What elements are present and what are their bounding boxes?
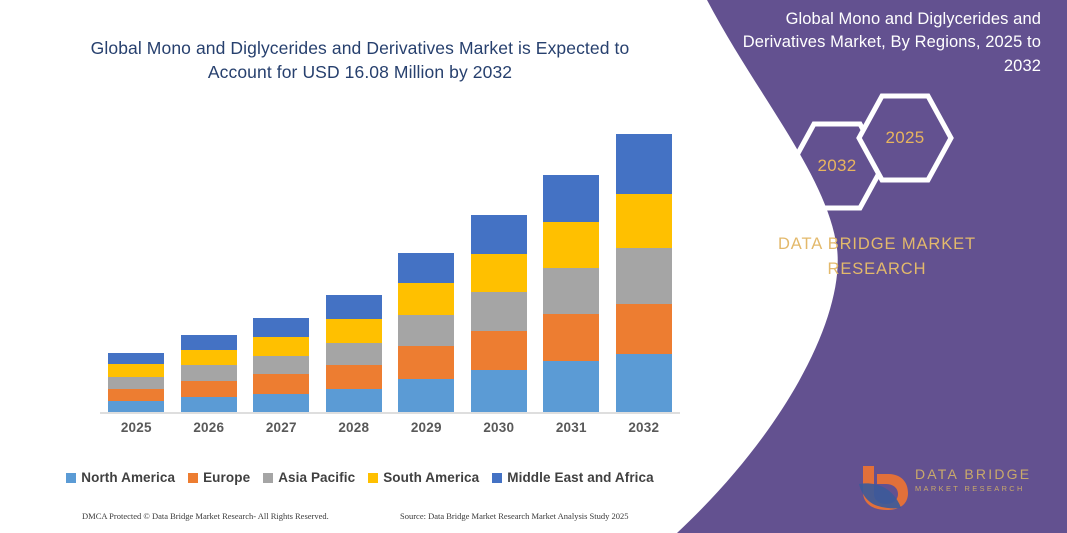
x-axis-label-2028: 2028 <box>326 420 382 435</box>
legend-swatch-icon <box>263 473 273 483</box>
bar-segment <box>326 365 382 388</box>
bar-segment <box>253 337 309 356</box>
bar-segment <box>326 319 382 343</box>
bar-segment <box>471 254 527 293</box>
bar-segment <box>108 353 164 364</box>
hexagon-outline-icon <box>787 120 887 212</box>
bar-segment <box>398 379 454 414</box>
panel-title: Global Mono and Diglycerides and Derivat… <box>731 8 1041 78</box>
bar-column-2032 <box>616 134 672 414</box>
purple-panel-content: Global Mono and Diglycerides and Derivat… <box>677 0 1067 533</box>
bar-segment <box>326 389 382 414</box>
bar-segment <box>398 253 454 283</box>
chart-legend: North AmericaEuropeAsia PacificSouth Ame… <box>0 470 720 485</box>
bar-segment <box>253 394 309 414</box>
logo-sub-text: MARKET RESEARCH <box>915 484 1047 493</box>
bar-segment <box>471 331 527 371</box>
legend-label: Asia Pacific <box>278 470 355 485</box>
bar-segment <box>181 381 237 397</box>
x-axis-label-2025: 2025 <box>108 420 164 435</box>
bar-column-2031 <box>543 175 599 414</box>
bar-segment <box>543 175 599 223</box>
legend-label: Middle East and Africa <box>507 470 653 485</box>
bar-segment <box>326 295 382 318</box>
bar-segment <box>616 304 672 355</box>
bar-segment <box>543 314 599 362</box>
bar-segment <box>253 374 309 393</box>
bar-segment <box>253 318 309 337</box>
bar-segment <box>326 343 382 365</box>
data-bridge-b-logo-icon <box>857 464 909 510</box>
legend-item-south-america[interactable]: South America <box>368 470 479 485</box>
right-purple-panel: Global Mono and Diglycerides and Derivat… <box>677 0 1067 533</box>
bar-segment <box>398 315 454 346</box>
legend-swatch-icon <box>492 473 502 483</box>
legend-item-asia-pacific[interactable]: Asia Pacific <box>263 470 355 485</box>
bar-segment <box>543 361 599 414</box>
bar-column-2025 <box>108 353 164 414</box>
bar-segment <box>616 134 672 194</box>
x-axis-label-2032: 2032 <box>616 420 672 435</box>
legend-label: Europe <box>203 470 250 485</box>
hexagon-badge-2032: 2032 <box>787 120 887 212</box>
brand-name: DATA BRIDGE MARKET RESEARCH <box>732 232 1022 282</box>
bar-segment <box>616 194 672 248</box>
hexagon-badges: 2032 2025 <box>787 92 967 202</box>
bar-segment <box>181 350 237 365</box>
legend-item-middle-east-and-africa[interactable]: Middle East and Africa <box>492 470 653 485</box>
bar-segment <box>398 346 454 378</box>
chart-panel: Global Mono and Diglycerides and Derivat… <box>0 0 720 533</box>
infographic-root: Global Mono and Diglycerides and Derivat… <box>0 0 1067 533</box>
bar-column-2029 <box>398 253 454 414</box>
x-axis-label-2030: 2030 <box>471 420 527 435</box>
bar-segment <box>616 248 672 304</box>
bar-segment <box>471 370 527 414</box>
bar-segment <box>108 364 164 376</box>
bar-segment <box>471 292 527 331</box>
bar-column-2030 <box>471 215 527 414</box>
bar-segment <box>471 215 527 254</box>
legend-swatch-icon <box>368 473 378 483</box>
bar-column-2026 <box>181 335 237 414</box>
bar-segment <box>181 365 237 380</box>
purple-panel-shape <box>677 0 1067 533</box>
chart-title: Global Mono and Diglycerides and Derivat… <box>60 36 660 84</box>
legend-item-europe[interactable]: Europe <box>188 470 250 485</box>
legend-label: North America <box>81 470 175 485</box>
chart-footer: DMCA Protected © Data Bridge Market Rese… <box>0 508 720 530</box>
dmca-notice: DMCA Protected © Data Bridge Market Rese… <box>82 511 329 521</box>
hexagon-badge-2025-label: 2025 <box>855 92 955 184</box>
logo-main-text: DATA BRIDGE <box>915 466 1047 482</box>
bar-column-2027 <box>253 318 309 414</box>
bar-segment <box>616 354 672 414</box>
bar-segment <box>253 356 309 374</box>
bar-segment <box>181 335 237 350</box>
legend-swatch-icon <box>188 473 198 483</box>
bar-segment <box>543 222 599 268</box>
bar-segment <box>108 377 164 389</box>
legend-swatch-icon <box>66 473 76 483</box>
stacked-bar-chart <box>100 120 680 414</box>
x-axis-label-2029: 2029 <box>398 420 454 435</box>
legend-label: South America <box>383 470 479 485</box>
hexagon-badge-2032-label: 2032 <box>787 120 887 212</box>
hexagon-outline-icon <box>855 92 955 184</box>
bar-segment <box>543 268 599 314</box>
hexagon-badge-2025: 2025 <box>855 92 955 184</box>
bar-segment <box>398 283 454 314</box>
source-note: Source: Data Bridge Market Research Mark… <box>400 511 629 521</box>
bar-column-2028 <box>326 295 382 414</box>
legend-item-north-america[interactable]: North America <box>66 470 175 485</box>
data-bridge-logo: DATA BRIDGE MARKET RESEARCH <box>857 462 1047 514</box>
chart-baseline <box>100 412 680 414</box>
bar-segment <box>108 389 164 401</box>
x-axis-label-2027: 2027 <box>253 420 309 435</box>
x-axis-labels: 20252026202720282029203020312032 <box>100 420 680 446</box>
x-axis-label-2026: 2026 <box>181 420 237 435</box>
x-axis-label-2031: 2031 <box>543 420 599 435</box>
logo-wordmark: DATA BRIDGE MARKET RESEARCH <box>915 466 1047 493</box>
